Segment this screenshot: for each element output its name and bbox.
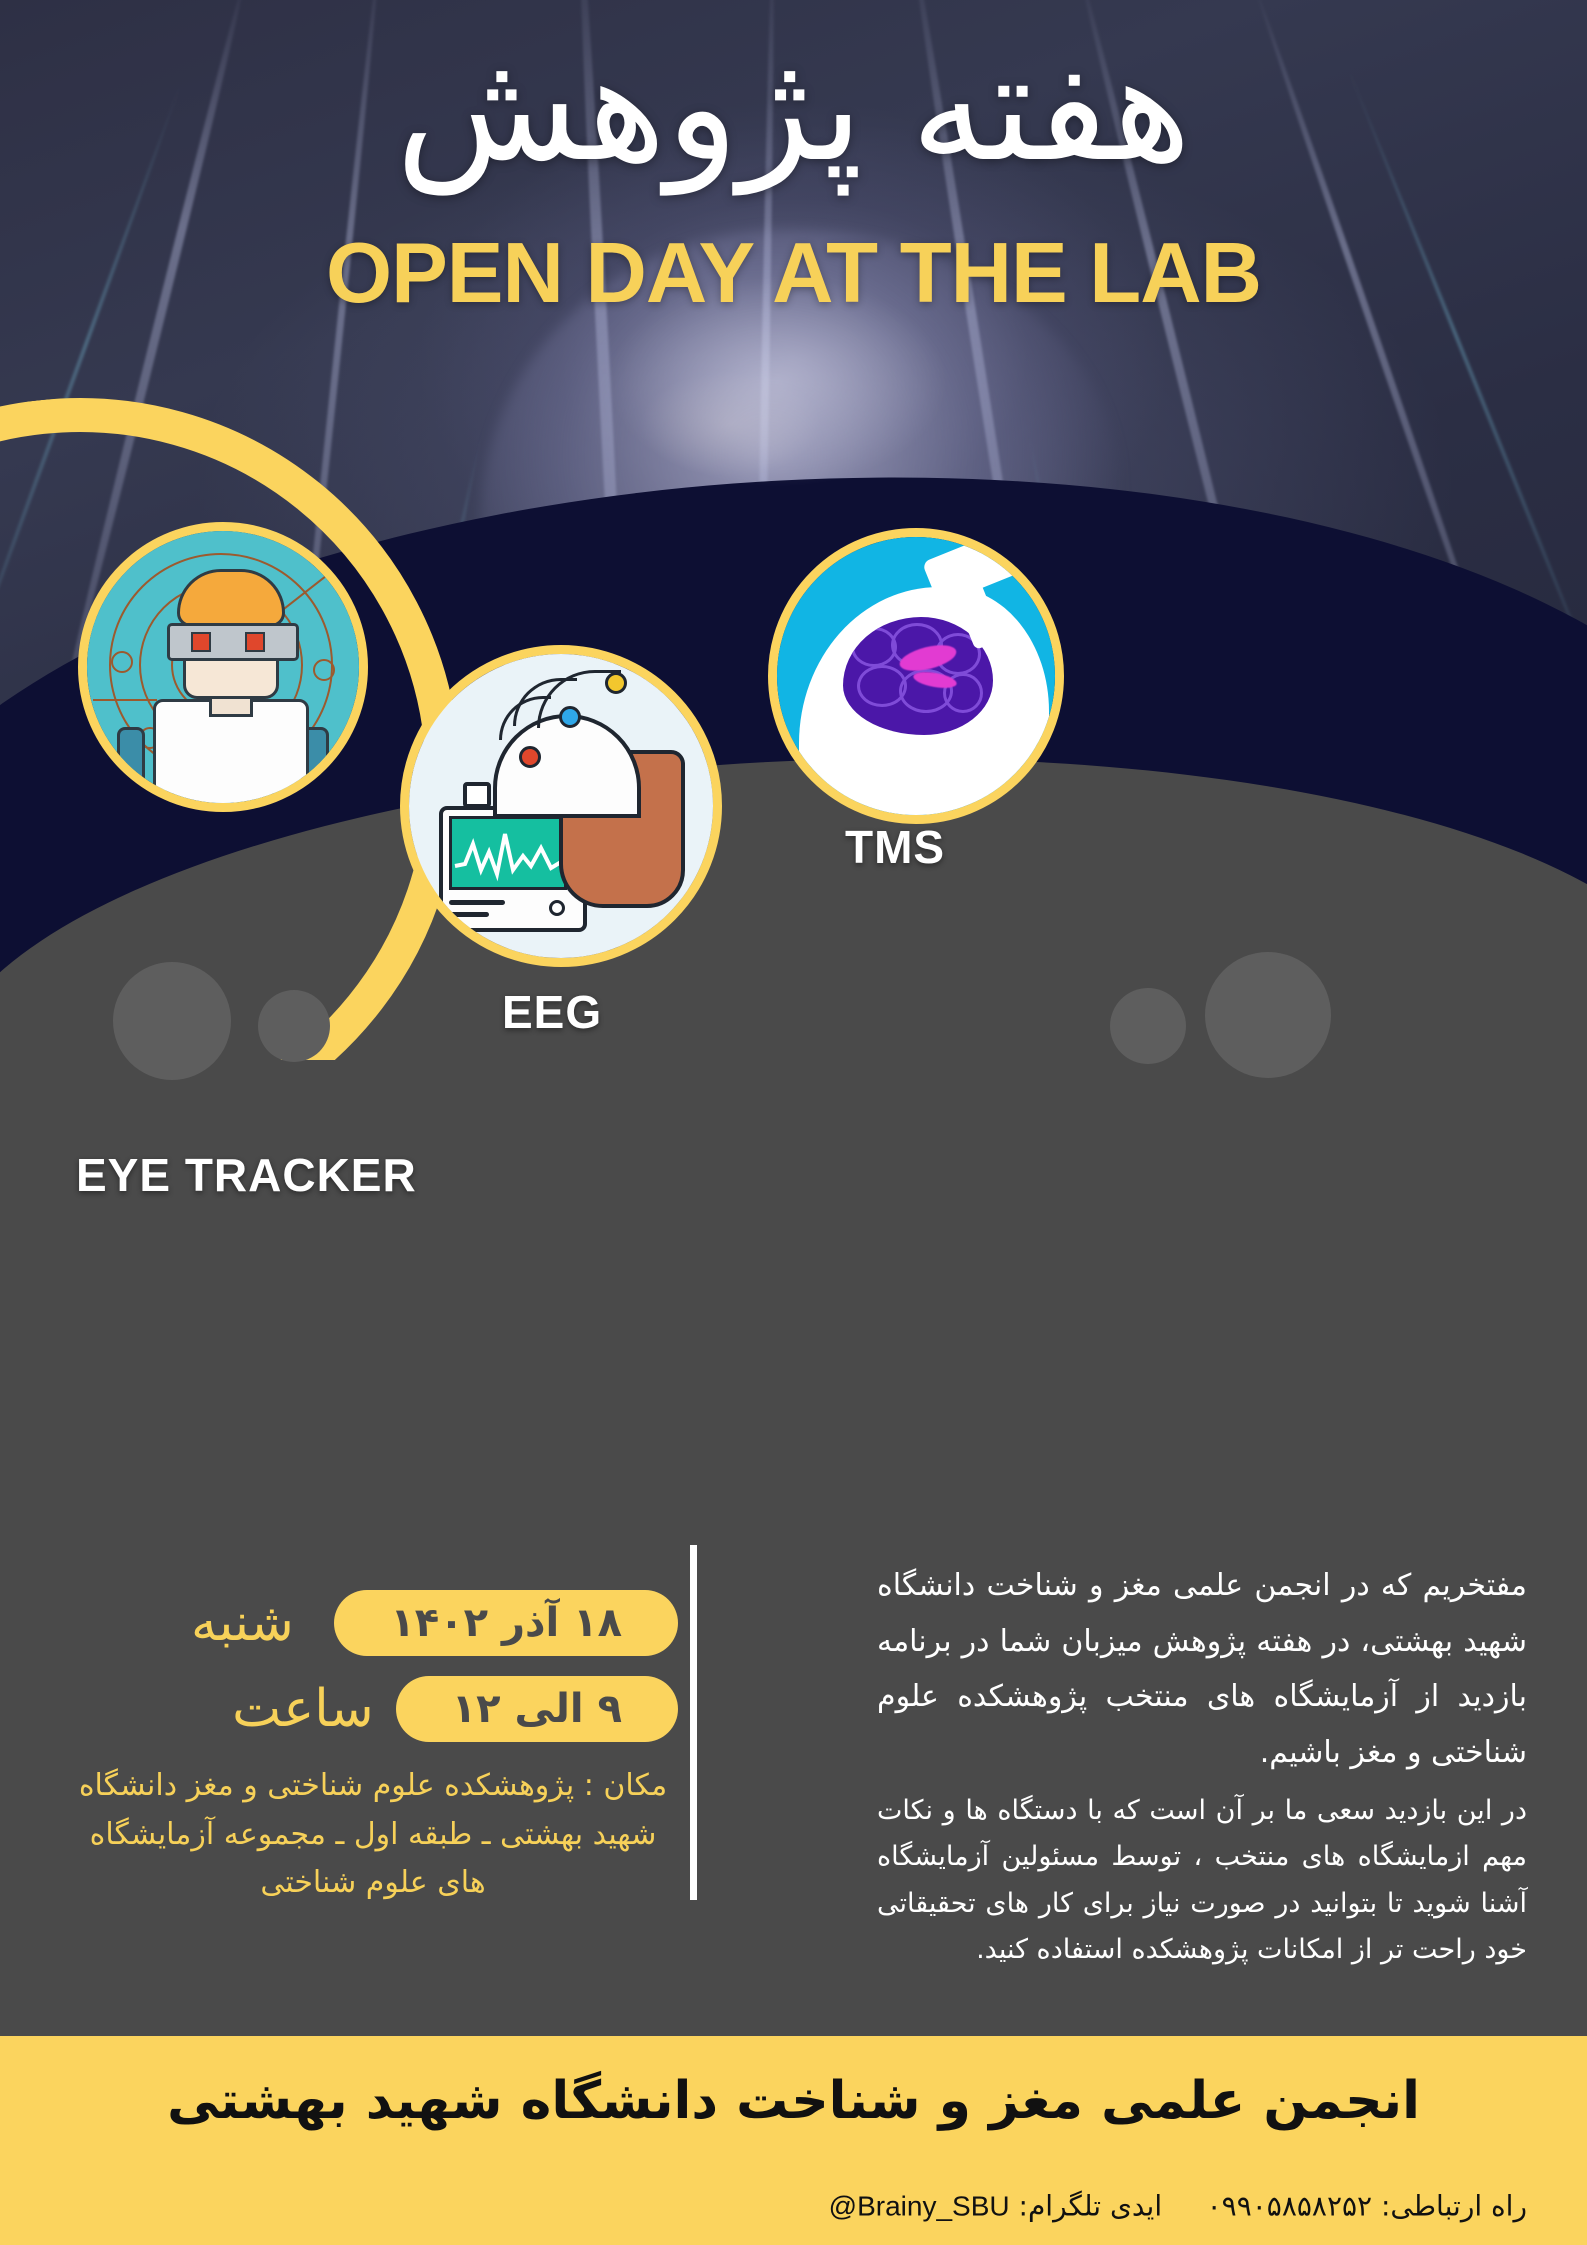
circle-label-eye-tracker: EYE TRACKER xyxy=(76,1148,417,1202)
circle-label-eeg: EEG xyxy=(502,985,602,1039)
tms-coil-icon xyxy=(777,537,1055,815)
schedule-row-day: ۱۸ آذر ۱۴۰۲ شنبه xyxy=(58,1590,678,1656)
poster-root: هفته پژوهش OPEN DAY AT THE LAB EYE xyxy=(0,0,1587,2245)
contact-phone: ۰۹۹۰۵۸۵۸۲۵۲ xyxy=(1207,2189,1372,2222)
footer-contact-band: دانشگاه شهید بهشتی راه ارتباطی: ۰۹۹۰۵۸۵۸… xyxy=(0,2166,1587,2245)
contact-label: راه ارتباطی: xyxy=(1381,2189,1527,2222)
eye-tracker-icon xyxy=(87,531,359,803)
decor-blob xyxy=(1110,988,1186,1064)
date-pill: ۱۸ آذر ۱۴۰۲ xyxy=(334,1590,678,1656)
description-paragraph-1: مفتخریم که در انجمن علمی مغز و شناخت دان… xyxy=(877,1558,1527,1780)
circle-eye-tracker[interactable] xyxy=(78,522,368,812)
time-pill: ۹ الی ۱۲ xyxy=(396,1676,678,1742)
decor-blob xyxy=(113,962,231,1080)
eeg-waveform-icon xyxy=(453,826,563,882)
time-label: ساعت xyxy=(232,1679,374,1739)
info-divider xyxy=(690,1545,697,1900)
contact-info: راه ارتباطی: ۰۹۹۰۵۸۵۸۲۵۲ ایدی تلگرام: @B… xyxy=(829,2189,1527,2222)
circle-label-tms: TMS xyxy=(845,820,945,874)
page-title-english: OPEN DAY AT THE LAB xyxy=(0,225,1587,323)
footer-organization-band: انجمن علمی مغز و شناخت دانشگاه شهید بهشت… xyxy=(0,2036,1587,2166)
circle-tms[interactable] xyxy=(768,528,1064,824)
day-label: شنبه xyxy=(172,1593,312,1653)
schedule-row-time: ۹ الی ۱۲ ساعت xyxy=(58,1676,678,1742)
description-paragraph-2: در این بازدید سعی ما بر آن است که با دست… xyxy=(877,1788,1527,1974)
eeg-headset-icon xyxy=(409,654,713,958)
decor-blob xyxy=(258,990,330,1062)
telegram-handle[interactable]: @Brainy_SBU xyxy=(829,2190,1010,2222)
organization-name: انجمن علمی مغز و شناخت دانشگاه شهید بهشت… xyxy=(167,2071,1420,2131)
circle-eeg[interactable] xyxy=(400,645,722,967)
place-text: مکان : پژوهشکده علوم شناختی و مغز دانشگا… xyxy=(58,1762,678,1908)
decor-blob xyxy=(1205,952,1331,1078)
schedule-block: ۱۸ آذر ۱۴۰۲ شنبه ۹ الی ۱۲ ساعت مکان : پژ… xyxy=(58,1590,678,1908)
page-title-persian: هفته پژوهش xyxy=(0,26,1587,191)
telegram-label: ایدی تلگرام: xyxy=(1019,2189,1163,2222)
description-block: مفتخریم که در انجمن علمی مغز و شناخت دان… xyxy=(877,1558,1527,1974)
